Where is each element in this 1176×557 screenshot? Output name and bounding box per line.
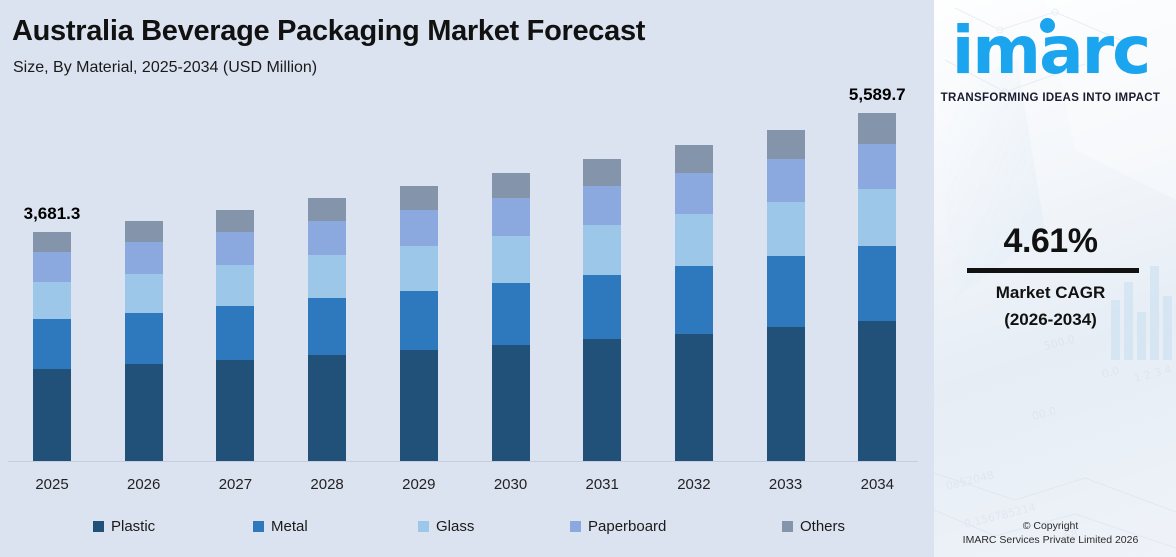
svg-text:0852048: 0852048 — [945, 468, 996, 492]
bar-segment-metal-2025[interactable] — [33, 319, 71, 368]
bar-segment-glass-2027[interactable] — [216, 265, 254, 306]
bar-2034[interactable] — [858, 113, 896, 461]
legend-item-others[interactable]: Others — [782, 518, 845, 535]
bar-segment-plastic-2026[interactable] — [125, 364, 163, 461]
bar-segment-others-2026[interactable] — [125, 221, 163, 242]
bar-segment-glass-2028[interactable] — [308, 255, 346, 298]
legend-swatch-plastic-icon — [93, 521, 104, 532]
bar-segment-glass-2032[interactable] — [675, 214, 713, 265]
bar-segment-metal-2026[interactable] — [125, 313, 163, 365]
bar-segment-others-2027[interactable] — [216, 210, 254, 232]
bar-segment-paperboard-2026[interactable] — [125, 242, 163, 273]
legend-label-metal: Metal — [271, 518, 308, 535]
x-axis-label-2034: 2034 — [837, 476, 917, 493]
bar-segment-metal-2034[interactable] — [858, 246, 896, 321]
cagr-label: Market CAGR — [925, 283, 1176, 303]
bar-2029[interactable] — [400, 186, 438, 461]
bar-segment-metal-2027[interactable] — [216, 306, 254, 360]
bar-segment-metal-2028[interactable] — [308, 298, 346, 354]
legend-swatch-glass-icon — [418, 521, 429, 532]
svg-text:1 2 3 4: 1 2 3 4 — [1133, 363, 1173, 385]
bar-value-label-2034: 5,589.7 — [817, 85, 937, 105]
legend-label-paperboard: Paperboard — [588, 518, 666, 535]
bar-segment-paperboard-2031[interactable] — [583, 186, 621, 225]
bar-segment-plastic-2025[interactable] — [33, 369, 71, 461]
chart-panel: Australia Beverage Packaging Market Fore… — [0, 0, 925, 557]
bar-2025[interactable] — [33, 232, 71, 461]
bar-segment-glass-2029[interactable] — [400, 246, 438, 291]
bar-segment-others-2032[interactable] — [675, 145, 713, 173]
x-axis-label-2031: 2031 — [562, 476, 642, 493]
bar-segment-others-2025[interactable] — [33, 232, 71, 252]
legend-item-metal[interactable]: Metal — [253, 518, 308, 535]
bar-segment-glass-2034[interactable] — [858, 189, 896, 246]
svg-text:500.0: 500.0 — [1043, 333, 1077, 353]
bar-segment-plastic-2032[interactable] — [675, 334, 713, 461]
bar-segment-others-2031[interactable] — [583, 159, 621, 186]
copyright-line-2: IMARC Services Private Limited 2026 — [925, 533, 1176, 547]
legend-swatch-metal-icon — [253, 521, 264, 532]
legend-item-paperboard[interactable]: Paperboard — [570, 518, 666, 535]
bar-2033[interactable] — [767, 130, 805, 461]
bar-segment-metal-2030[interactable] — [492, 283, 530, 345]
stacked-bar-chart: 20253,681.320262027202820292030203120322… — [0, 0, 925, 557]
x-axis-label-2032: 2032 — [654, 476, 734, 493]
x-axis-label-2025: 2025 — [12, 476, 92, 493]
bar-segment-glass-2033[interactable] — [767, 202, 805, 256]
bar-segment-others-2030[interactable] — [492, 173, 530, 198]
bar-segment-plastic-2027[interactable] — [216, 360, 254, 461]
bar-segment-plastic-2028[interactable] — [308, 355, 346, 461]
bar-2030[interactable] — [492, 173, 530, 461]
copyright-notice: © Copyright IMARC Services Private Limit… — [925, 519, 1176, 547]
bar-segment-paperboard-2032[interactable] — [675, 173, 713, 214]
bar-2026[interactable] — [125, 221, 163, 461]
bar-2027[interactable] — [216, 210, 254, 461]
cagr-divider — [967, 268, 1139, 273]
x-axis-label-2033: 2033 — [746, 476, 826, 493]
bar-segment-paperboard-2034[interactable] — [858, 144, 896, 189]
bar-segment-paperboard-2027[interactable] — [216, 232, 254, 265]
svg-text:0.0: 0.0 — [1101, 364, 1121, 381]
brand-panel: 0.0 1 2 3 4 500.0 00.0 0852048 0.1567852… — [925, 0, 1176, 557]
imarc-logo-dot-icon — [1040, 18, 1055, 33]
bar-segment-plastic-2029[interactable] — [400, 350, 438, 461]
bar-segment-plastic-2034[interactable] — [858, 321, 896, 461]
axis-baseline — [8, 461, 918, 462]
legend-item-plastic[interactable]: Plastic — [93, 518, 155, 535]
bar-segment-glass-2025[interactable] — [33, 282, 71, 319]
bar-segment-metal-2032[interactable] — [675, 266, 713, 334]
x-axis-label-2027: 2027 — [195, 476, 275, 493]
bar-segment-plastic-2033[interactable] — [767, 327, 805, 461]
bar-segment-glass-2030[interactable] — [492, 236, 530, 283]
x-axis-label-2028: 2028 — [287, 476, 367, 493]
copyright-line-1: © Copyright — [925, 519, 1176, 533]
x-axis-label-2030: 2030 — [471, 476, 551, 493]
bar-segment-paperboard-2028[interactable] — [308, 221, 346, 255]
cagr-value: 4.61% — [925, 222, 1176, 261]
bar-segment-plastic-2031[interactable] — [583, 339, 621, 461]
bar-2032[interactable] — [675, 145, 713, 461]
bar-segment-others-2029[interactable] — [400, 186, 438, 210]
bar-segment-others-2033[interactable] — [767, 130, 805, 159]
cagr-period: (2026-2034) — [925, 310, 1176, 330]
legend-label-glass: Glass — [436, 518, 474, 535]
bar-value-label-2025: 3,681.3 — [0, 204, 112, 224]
bar-segment-paperboard-2033[interactable] — [767, 159, 805, 202]
bar-segment-metal-2031[interactable] — [583, 275, 621, 340]
bar-segment-plastic-2030[interactable] — [492, 345, 530, 461]
bar-segment-others-2028[interactable] — [308, 198, 346, 221]
legend-label-plastic: Plastic — [111, 518, 155, 535]
bar-segment-glass-2026[interactable] — [125, 274, 163, 313]
bar-segment-others-2034[interactable] — [858, 113, 896, 144]
legend-label-others: Others — [800, 518, 845, 535]
svg-text:00.0: 00.0 — [1031, 404, 1058, 423]
bar-segment-metal-2033[interactable] — [767, 256, 805, 327]
bar-segment-paperboard-2025[interactable] — [33, 252, 71, 282]
chart-legend: PlasticMetalGlassPaperboardOthers — [0, 518, 925, 542]
bar-segment-paperboard-2030[interactable] — [492, 198, 530, 236]
x-axis-label-2029: 2029 — [379, 476, 459, 493]
legend-item-glass[interactable]: Glass — [418, 518, 474, 535]
imarc-logo-tagline: TRANSFORMING IDEAS INTO IMPACT — [925, 92, 1176, 104]
bar-segment-metal-2029[interactable] — [400, 291, 438, 350]
imarc-logo: imarc TRANSFORMING IDEAS INTO IMPACT — [925, 10, 1176, 105]
chart-screenshot: Australia Beverage Packaging Market Fore… — [0, 0, 1176, 557]
legend-swatch-others-icon — [782, 521, 793, 532]
bar-segment-glass-2031[interactable] — [583, 225, 621, 274]
legend-swatch-paperboard-icon — [570, 521, 581, 532]
bar-2028[interactable] — [308, 198, 346, 461]
bar-segment-paperboard-2029[interactable] — [400, 210, 438, 246]
x-axis-label-2026: 2026 — [104, 476, 184, 493]
bar-2031[interactable] — [583, 159, 621, 461]
